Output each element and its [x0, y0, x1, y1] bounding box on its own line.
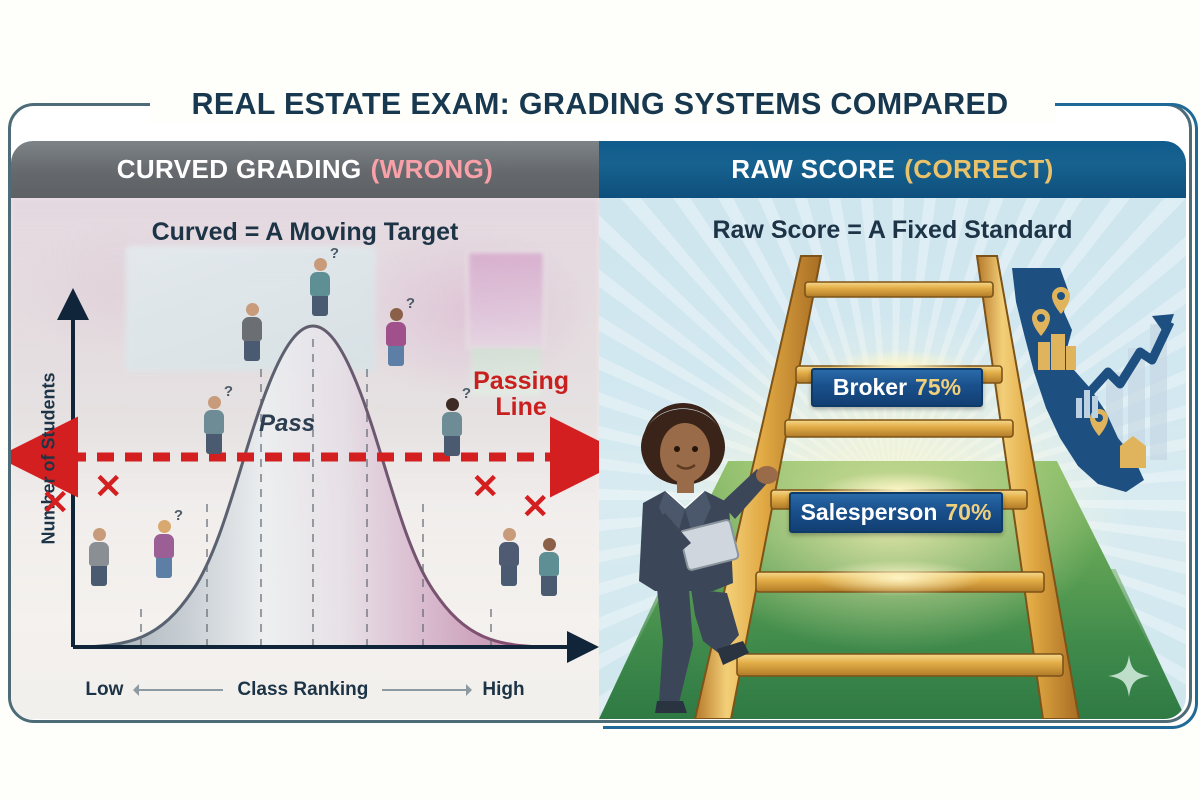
- question-mark-icon: ?: [406, 295, 415, 312]
- bell-curve-chart: [11, 198, 599, 719]
- student-figure: [86, 528, 112, 586]
- student-head: [446, 398, 459, 411]
- student-body: [499, 542, 519, 566]
- left-panel-header: CURVED GRADING (WRONG): [11, 141, 599, 198]
- student-figure: ?: [201, 396, 227, 454]
- student-head: [314, 258, 327, 271]
- student-legs: [156, 558, 172, 578]
- student-legs: [501, 566, 517, 586]
- passing-line-label-line1: Passing: [473, 368, 569, 394]
- right-header-main-text: RAW SCORE: [731, 154, 895, 185]
- student-figure: [496, 528, 522, 586]
- fail-x-icon: ✕: [521, 490, 550, 524]
- rung-glint: [815, 560, 983, 596]
- student-legs: [244, 341, 260, 361]
- rung-badge-salesperson-label: Salesperson: [801, 499, 938, 526]
- student-body: [386, 322, 406, 346]
- left-panel-subtitle: Curved = A Moving Target: [11, 218, 599, 247]
- student-body: [442, 412, 462, 436]
- left-header-accent-text: (WRONG): [371, 154, 494, 185]
- question-mark-icon: ?: [462, 385, 471, 402]
- curved-grading-panel: Curved = A Moving Target: [11, 198, 599, 719]
- x-axis-caption-row: Low Class Ranking High: [11, 679, 599, 701]
- right-panel-header: RAW SCORE (CORRECT): [599, 141, 1186, 198]
- rung-badge-broker-percent: 75%: [915, 374, 961, 401]
- student-legs: [91, 566, 107, 586]
- question-mark-icon: ?: [224, 383, 233, 400]
- realtor-shoe: [655, 701, 687, 713]
- right-panel-subtitle: Raw Score = A Fixed Standard: [599, 216, 1186, 245]
- y-axis-label: Number of Students: [39, 359, 60, 559]
- rung-badge-broker: Broker 75%: [811, 368, 983, 407]
- passing-line-label-line2: Line: [473, 394, 569, 420]
- realtor-figure: [617, 403, 782, 713]
- pass-zone-label: Pass: [259, 410, 315, 438]
- student-head: [93, 528, 106, 541]
- x-axis-label: Class Ranking: [231, 679, 374, 701]
- student-body: [89, 542, 109, 566]
- fail-x-icon: ✕: [41, 486, 70, 520]
- student-figure: ?: [439, 398, 465, 456]
- question-mark-icon: ?: [330, 245, 339, 262]
- student-legs: [444, 436, 460, 456]
- fail-x-icon: ✕: [94, 470, 123, 504]
- student-legs: [388, 346, 404, 366]
- right-header-accent-text: (CORRECT): [904, 154, 1053, 185]
- raw-score-panel: Raw Score = A Fixed Standard: [599, 198, 1186, 719]
- student-body: [310, 272, 330, 296]
- rung-badge-salesperson-percent: 70%: [945, 499, 991, 526]
- student-figure: [239, 303, 265, 361]
- student-head: [246, 303, 259, 316]
- student-head: [503, 528, 516, 541]
- x-axis-high-label: High: [476, 679, 530, 701]
- page-title: REAL ESTATE EXAM: GRADING SYSTEMS COMPAR…: [0, 87, 1200, 122]
- student-legs: [541, 576, 557, 596]
- rung-badge-broker-label: Broker: [833, 374, 907, 401]
- student-body: [204, 410, 224, 434]
- x-axis-left-arrow-icon: [137, 689, 223, 691]
- fail-x-icon: ✕: [471, 470, 500, 504]
- question-mark-icon: ?: [174, 507, 183, 524]
- ladder-rung: [785, 420, 1013, 437]
- realtor-face: [660, 423, 710, 483]
- student-head: [208, 396, 221, 409]
- student-head: [543, 538, 556, 551]
- ladder-rung: [737, 654, 1063, 676]
- infographic-canvas: REAL ESTATE EXAM: GRADING SYSTEMS COMPAR…: [0, 0, 1200, 800]
- rung-badge-salesperson: Salesperson 70%: [789, 492, 1003, 533]
- student-legs: [206, 434, 222, 454]
- student-body: [154, 534, 174, 558]
- student-body: [242, 317, 262, 341]
- ladder-rung: [805, 282, 993, 297]
- student-figure: ?: [383, 308, 409, 366]
- student-figure: [536, 538, 562, 596]
- student-head: [158, 520, 171, 533]
- student-figure: ?: [151, 520, 177, 578]
- x-axis-low-label: Low: [79, 679, 129, 701]
- sparkle-icon: [1108, 655, 1150, 697]
- passing-line-label: Passing Line: [473, 368, 569, 421]
- left-header-main-text: CURVED GRADING: [117, 154, 362, 185]
- x-axis-right-arrow-icon: [382, 689, 468, 691]
- student-body: [539, 552, 559, 576]
- realtor-leg-standing: [657, 589, 693, 703]
- student-legs: [312, 296, 328, 316]
- student-head: [390, 308, 403, 321]
- california-map-graphic: [994, 260, 1174, 515]
- realtor-hand: [756, 466, 778, 484]
- student-figure: ?: [307, 258, 333, 316]
